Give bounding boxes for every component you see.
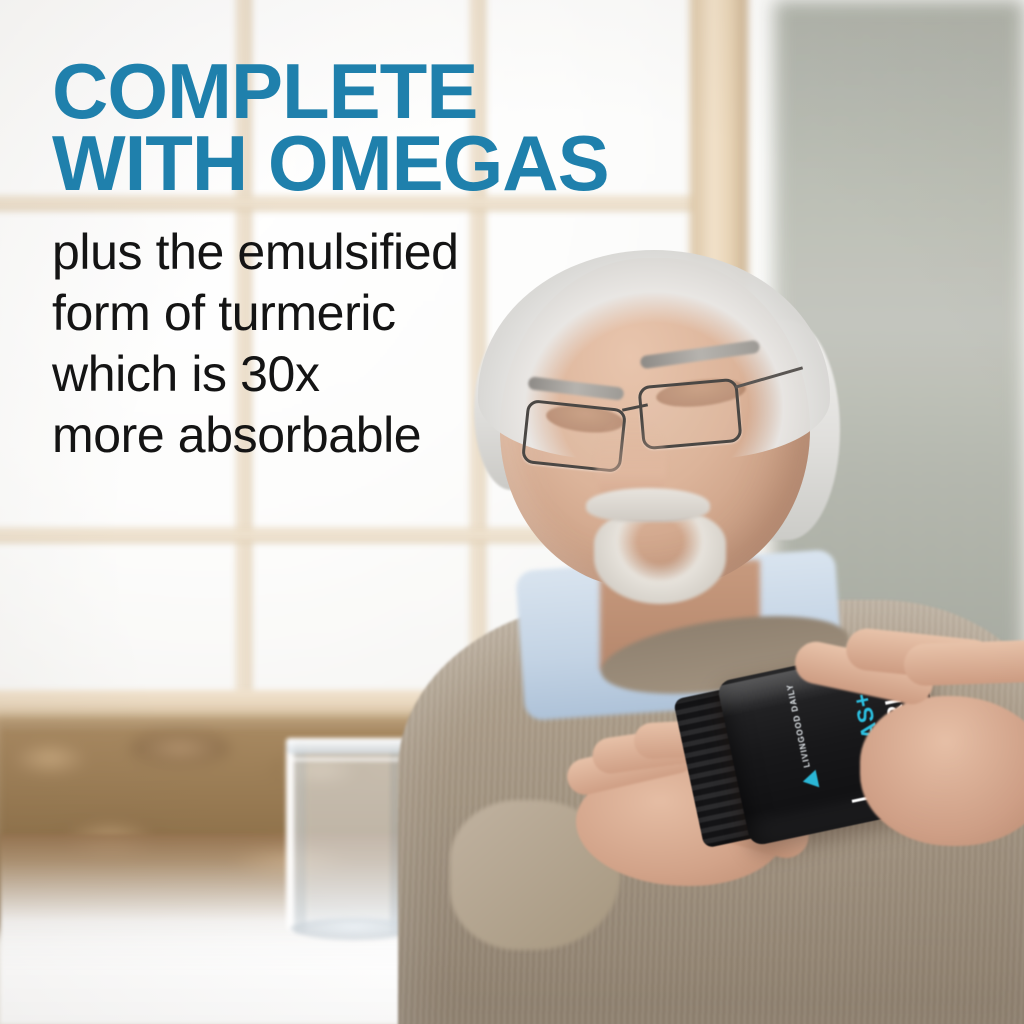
- product-banner: LIVINGOOD DAILY OMEGAS+ TURMERIC 2-IN-1 …: [0, 0, 1024, 1024]
- headline: COMPLETE WITH OMEGAS: [52, 56, 609, 200]
- subheadline-line-2: form of turmeric: [52, 283, 459, 344]
- headline-line-2: WITH OMEGAS: [52, 128, 609, 200]
- subheadline-line-1: plus the emulsified: [52, 222, 459, 283]
- subheadline-line-4: more absorbable: [52, 405, 459, 466]
- headline-line-1: COMPLETE: [52, 56, 609, 128]
- subheadline-line-3: which is 30x: [52, 344, 459, 405]
- text-overlay: COMPLETE WITH OMEGAS plus the emulsified…: [0, 0, 1024, 1024]
- subheadline: plus the emulsified form of turmeric whi…: [52, 222, 459, 466]
